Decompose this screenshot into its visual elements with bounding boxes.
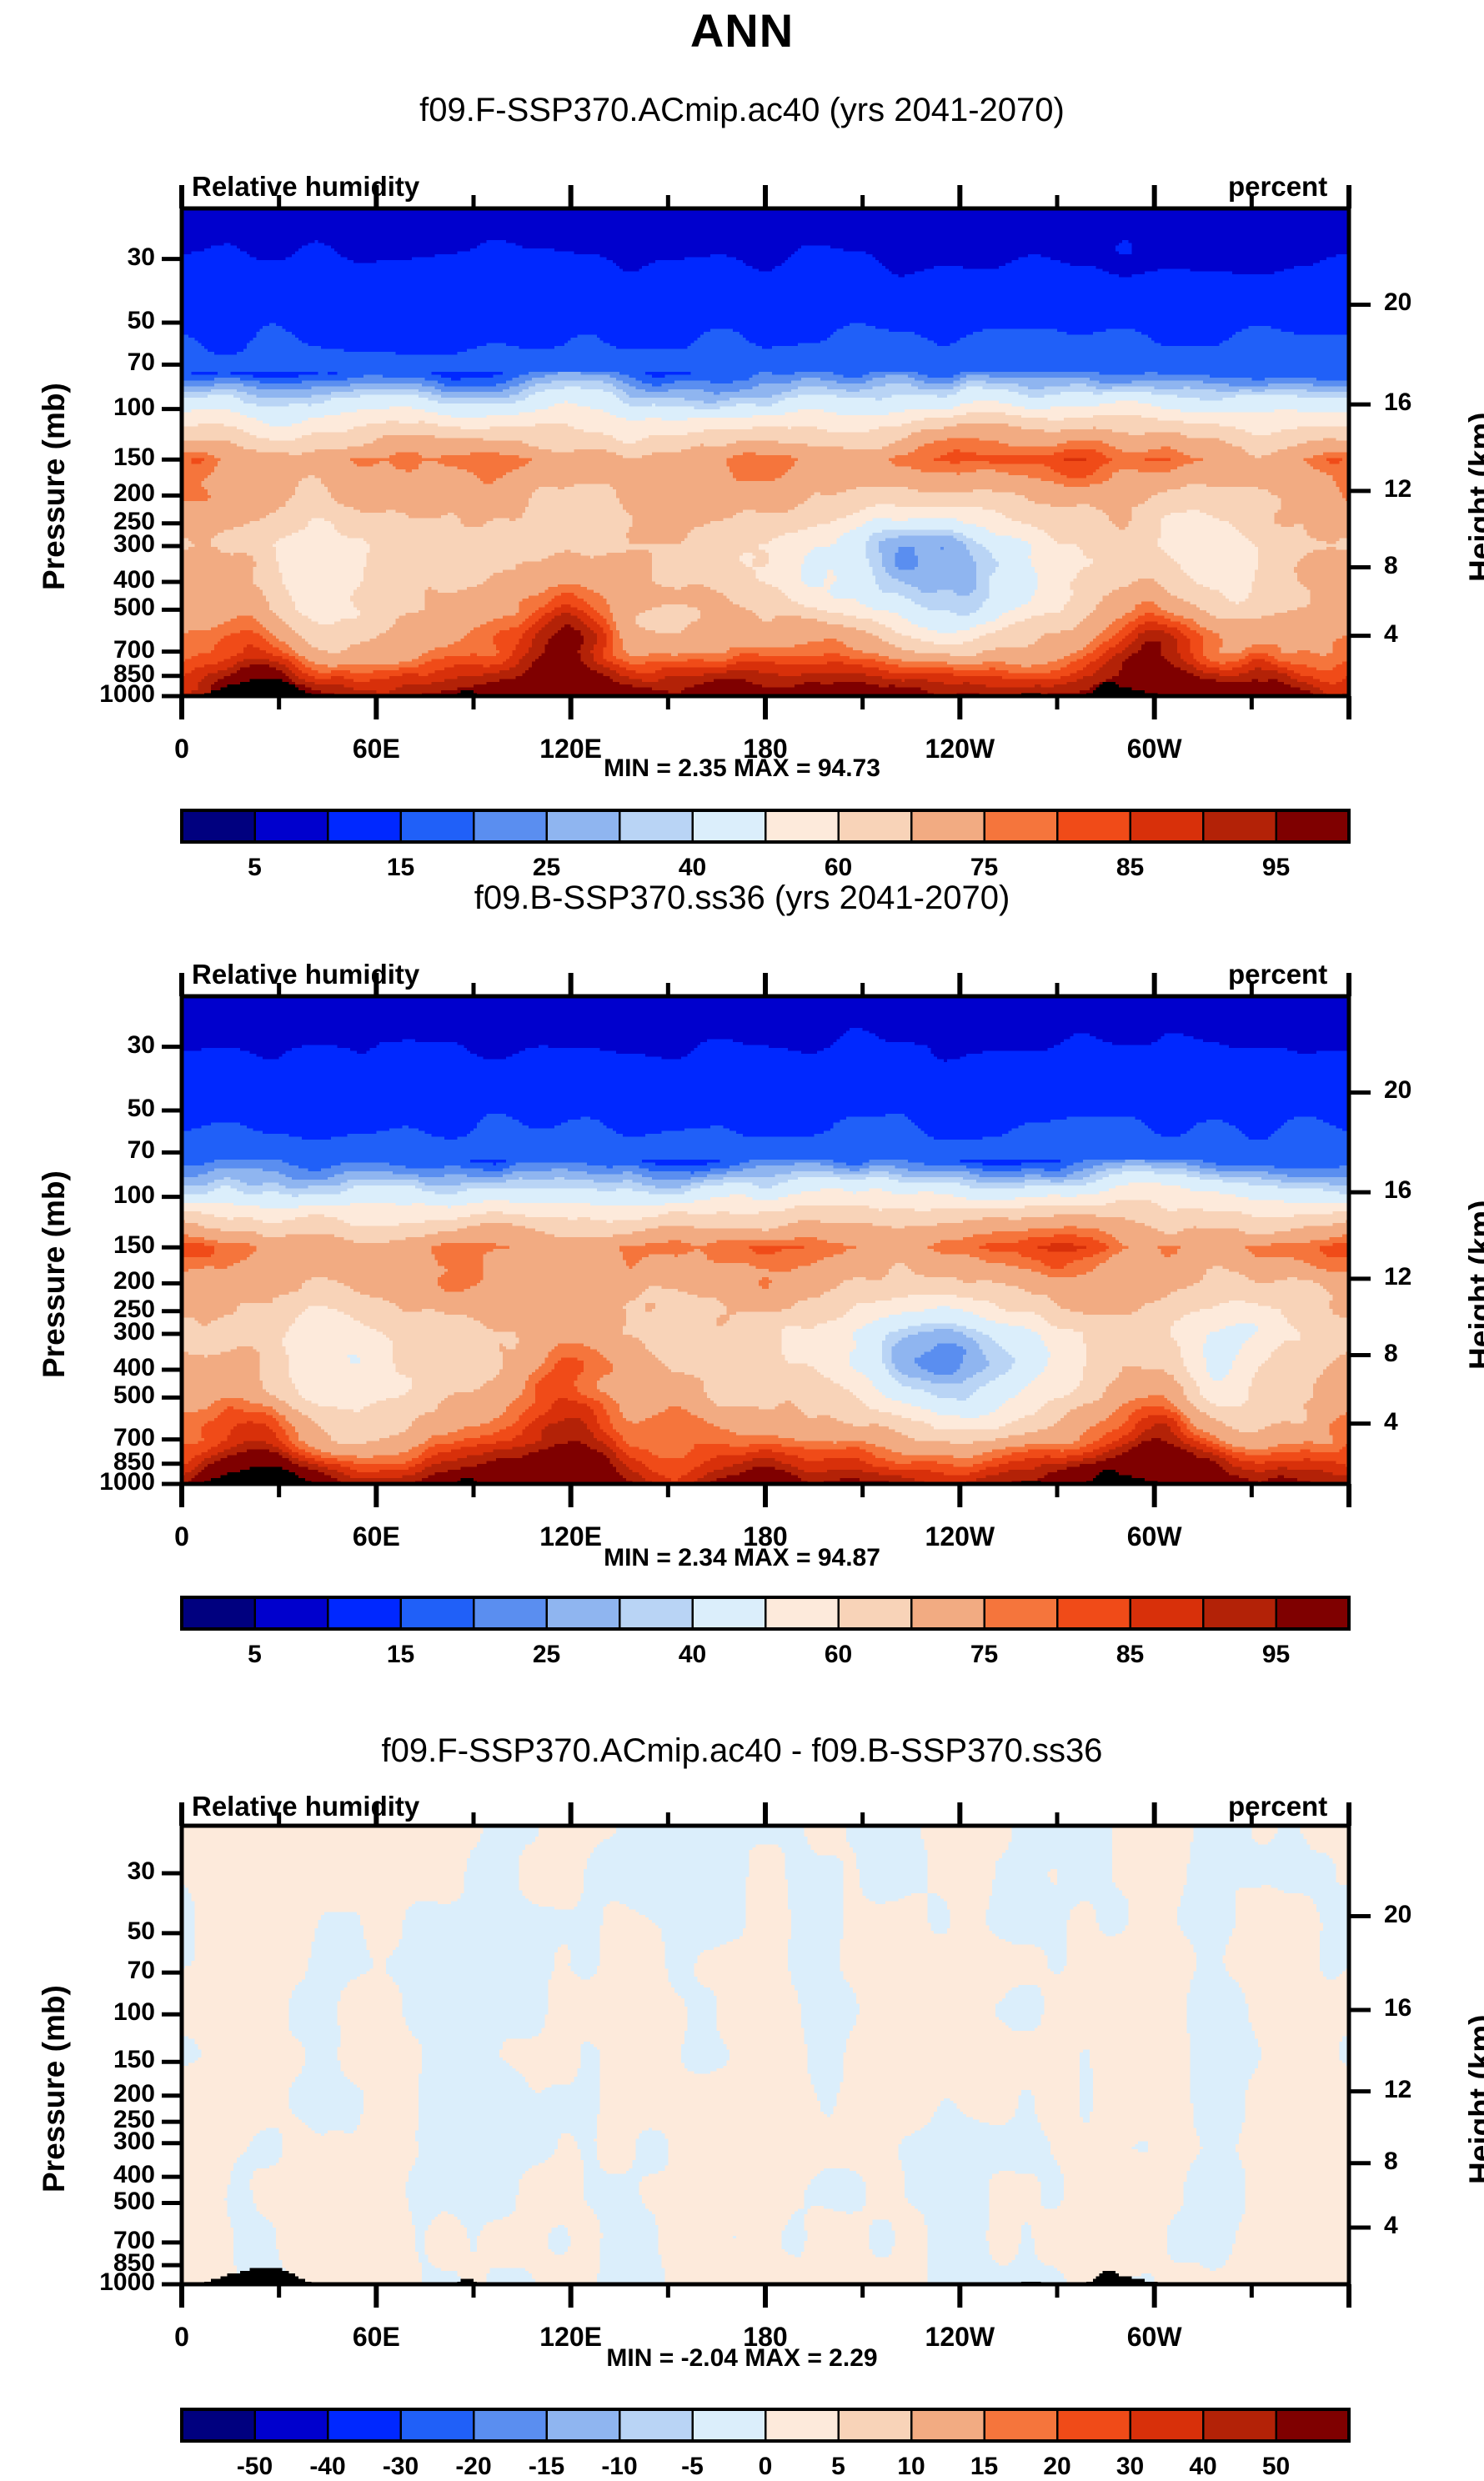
- y-axis-tick-label: 150: [50, 2046, 155, 2074]
- y-axis-tick-label: 400: [50, 566, 155, 594]
- y-axis-tick-label: 100: [50, 1181, 155, 1210]
- height-axis-tick-label: 12: [1384, 475, 1411, 504]
- y-axis-tick-label: 400: [50, 2161, 155, 2189]
- min-max-label: MIN = 2.34 MAX = 94.87: [0, 1544, 1484, 1572]
- colorbar-tick-label: 85: [1072, 1641, 1189, 1669]
- colorbar-tick-label: 40: [634, 1641, 751, 1669]
- height-axis-tick-label: 4: [1384, 2212, 1398, 2240]
- y-axis-tick-label: 50: [50, 307, 155, 335]
- height-axis-tick-label: 16: [1384, 388, 1411, 417]
- colorbar[interactable]: [0, 807, 1484, 845]
- y-axis-tick-label: 200: [50, 479, 155, 508]
- y-axis-tick-label: 50: [50, 1917, 155, 1946]
- height-axis-tick-label: 16: [1384, 1994, 1411, 2022]
- colorbar-tick-label: 25: [489, 854, 605, 882]
- height-axis-tick-label: 4: [1384, 1408, 1398, 1436]
- y-axis-tick-label: 500: [50, 1381, 155, 1410]
- height-axis-tick-label: 20: [1384, 1076, 1411, 1105]
- panel-title: f09.F-SSP370.ACmip.ac40 - f09.B-SSP370.s…: [0, 1732, 1484, 1770]
- colorbar-tick-label: 60: [780, 854, 897, 882]
- y-axis-tick-label: 150: [50, 1231, 155, 1260]
- colorbar-tick-label: 15: [343, 854, 459, 882]
- y-axis-tick-label: 30: [50, 1031, 155, 1060]
- colorbar-tick-label: 75: [926, 854, 1043, 882]
- colorbar-tick-label: 95: [1218, 1641, 1335, 1669]
- height-axis-tick-label: 8: [1384, 1340, 1398, 1368]
- colorbar-tick-label: 5: [197, 854, 313, 882]
- y-axis-tick-label: 1000: [50, 1468, 155, 1496]
- panel-title: f09.B-SSP370.ss36 (yrs 2041-2070): [0, 880, 1484, 917]
- y-axis-tick-label: 1000: [50, 680, 155, 709]
- colorbar-tick-label: 85: [1072, 854, 1189, 882]
- height-axis-tick-label: 8: [1384, 552, 1398, 580]
- y-axis-tick-label: 70: [50, 1957, 155, 1985]
- colorbar-tick-label: 95: [1218, 854, 1335, 882]
- colorbar-tick-label: 5: [197, 1641, 313, 1669]
- y-axis-tick-label: 100: [50, 393, 155, 422]
- y-axis-tick-label: 70: [50, 1136, 155, 1165]
- plot-svg: [0, 1801, 1484, 2318]
- y-axis-tick-label: 100: [50, 1998, 155, 2027]
- y-axis-tick-label: 200: [50, 1267, 155, 1296]
- min-max-label: MIN = 2.35 MAX = 94.73: [0, 754, 1484, 783]
- colorbar-tick-label: 60: [780, 1641, 897, 1669]
- y-axis-tick-label: 150: [50, 444, 155, 472]
- colorbar-tick-label: 40: [634, 854, 751, 882]
- y-axis-tick-label: 300: [50, 1318, 155, 1346]
- y-axis-tick-label: 400: [50, 1354, 155, 1382]
- colorbar-tick-label: 50: [1218, 2453, 1335, 2481]
- page-title: ANN: [0, 3, 1484, 58]
- y-axis-tick-label: 500: [50, 2188, 155, 2216]
- height-axis-tick-label: 20: [1384, 1901, 1411, 1929]
- y-axis-tick-label: 300: [50, 530, 155, 559]
- y-axis-tick-label: 70: [50, 348, 155, 377]
- y-axis-tick-label: 300: [50, 2128, 155, 2156]
- height-axis-tick-label: 20: [1384, 288, 1411, 317]
- height-axis-tick-label: 12: [1384, 2076, 1411, 2104]
- height-axis-tick-label: 4: [1384, 620, 1398, 649]
- colorbar-tick-label: 15: [343, 1641, 459, 1669]
- y-axis-tick-label: 30: [50, 243, 155, 272]
- colorbar-tick-label: 25: [489, 1641, 605, 1669]
- plot-svg: [0, 183, 1484, 729]
- y-axis-tick-label: 1000: [50, 2268, 155, 2297]
- panel-title: f09.F-SSP370.ACmip.ac40 (yrs 2041-2070): [0, 92, 1484, 129]
- height-axis-tick-label: 16: [1384, 1176, 1411, 1205]
- y-axis-tick-label: 200: [50, 2080, 155, 2108]
- height-axis-tick-label: 8: [1384, 2148, 1398, 2176]
- height-axis-tick-label: 12: [1384, 1263, 1411, 1291]
- y-axis-tick-label: 30: [50, 1857, 155, 1886]
- y-axis-tick-label: 50: [50, 1095, 155, 1123]
- min-max-label: MIN = -2.04 MAX = 2.29: [0, 2344, 1484, 2373]
- colorbar[interactable]: [0, 2406, 1484, 2444]
- y-axis-tick-label: 500: [50, 594, 155, 622]
- colorbar[interactable]: [0, 1594, 1484, 1632]
- colorbar-tick-label: 75: [926, 1641, 1043, 1669]
- plot-svg: [0, 971, 1484, 1517]
